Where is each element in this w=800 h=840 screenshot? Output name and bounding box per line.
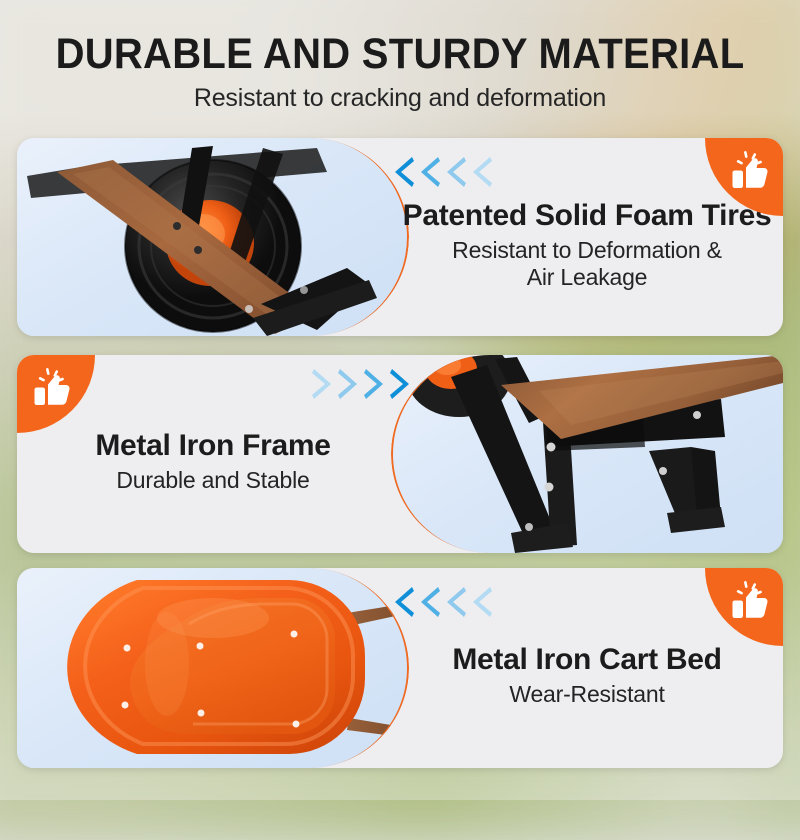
- header: DURABLE AND STURDY MATERIAL Resistant to…: [0, 0, 800, 113]
- chevron-left-icon: [470, 585, 494, 619]
- page-subtitle: Resistant to cracking and deformation: [0, 84, 800, 113]
- chevron-left-icon: [444, 155, 468, 189]
- chevron-right-icon: [362, 367, 386, 401]
- wheelbarrow-frame-photo: [391, 355, 783, 553]
- chevron-group-right: [310, 367, 412, 401]
- chevron-left-icon: [418, 155, 442, 189]
- chevron-left-icon: [444, 585, 468, 619]
- chevron-left-icon: [392, 155, 416, 189]
- chevron-group-left: [392, 585, 494, 619]
- thumbs-up-icon: [29, 367, 73, 411]
- panel-headline: Metal Iron Cart Bed: [452, 643, 721, 677]
- thumbs-up-icon: [727, 580, 771, 624]
- chevron-group-left: [392, 155, 494, 189]
- chevron-right-icon: [336, 367, 360, 401]
- chevron-right-icon: [388, 367, 412, 401]
- chevron-left-icon: [418, 585, 442, 619]
- page-title: DURABLE AND STURDY MATERIAL: [28, 32, 772, 77]
- wheelbarrow-cart-bed-photo: [17, 568, 409, 768]
- panel-subline: Durable and Stable: [116, 467, 309, 494]
- wheelbarrow-wheel-photo: [17, 138, 409, 336]
- chevron-left-icon: [392, 585, 416, 619]
- panel-headline: Patented Solid Foam Tires: [403, 199, 772, 233]
- panel-subline: Resistant to Deformation &Air Leakage: [452, 237, 722, 291]
- thumbs-up-icon: [727, 150, 771, 194]
- panel-subline: Wear-Resistant: [509, 681, 664, 708]
- chevron-right-icon: [310, 367, 334, 401]
- panel-headline: Metal Iron Frame: [95, 429, 330, 463]
- chevron-left-icon: [470, 155, 494, 189]
